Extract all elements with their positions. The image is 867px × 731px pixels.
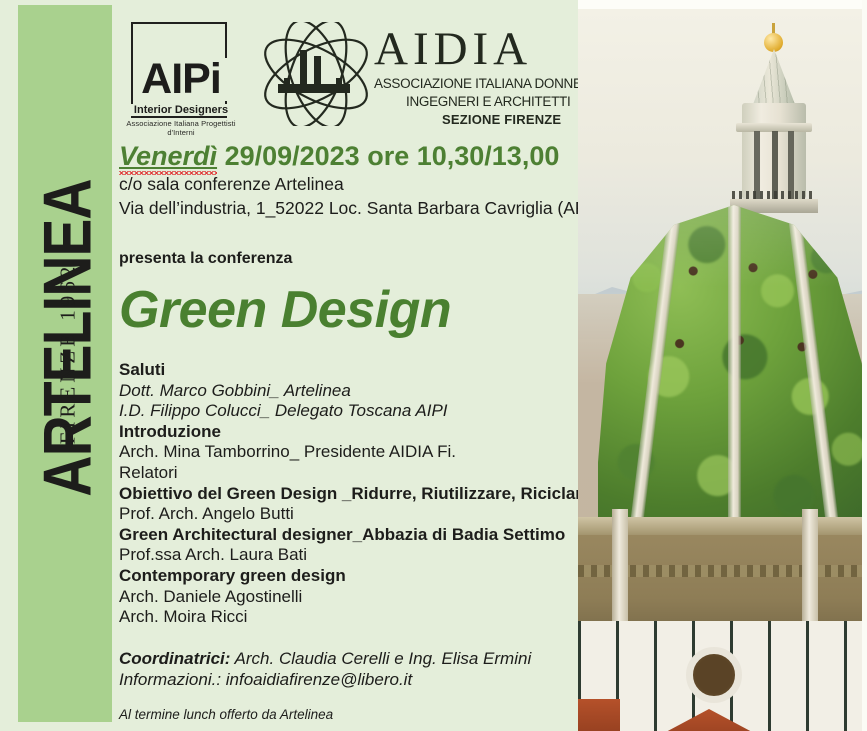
page-title: Green Design: [119, 280, 574, 340]
top-white-margin: [578, 0, 867, 9]
aidia-logo: AIDIA ASSOCIAZIONE ITALIANA DONNE INGEGN…: [256, 14, 566, 132]
event-venue: c/o sala conferenze Artelinea: [119, 172, 574, 196]
oculus-window: [686, 647, 742, 703]
list-item: Introduzione: [119, 422, 574, 443]
list-item: I.D. Filippo Colucci_ Delegato Toscana A…: [119, 401, 574, 422]
right-white-margin: [862, 0, 867, 731]
gold-sphere-icon: [764, 33, 783, 52]
coordinators-value: Arch. Claudia Cerelli e Ing. Elisa Ermin…: [230, 649, 531, 668]
drum-buttress: [612, 509, 628, 639]
coordinators-label: Coordinatrici:: [119, 649, 230, 668]
list-item: Arch. Mina Tamborrino_ Presidente AIDIA …: [119, 442, 574, 463]
aidia-line2: INGEGNERI E ARCHITETTI: [406, 94, 570, 109]
list-item: Arch. Moira Ricci: [119, 607, 574, 628]
brand-band-inner: ARTELINEA FIRENZE 1962: [18, 5, 112, 722]
list-item: Obiettivo del Green Design _Ridurre, Riu…: [119, 484, 574, 505]
list-item: Arch. Daniele Agostinelli: [119, 587, 574, 608]
aidia-wordmark: AIDIA: [374, 24, 532, 74]
lunch-note: Al termine lunch offerto da Artelinea: [119, 707, 574, 722]
aipi-full-name: Associazione Italiana Progettisti d'Inte…: [125, 119, 237, 137]
event-headline: Venerdì 29/09/2023 ore 10,30/13,00: [119, 140, 574, 172]
duomo-photo: [578, 9, 862, 731]
drum-buttress: [802, 509, 818, 639]
list-item: Prof. Arch. Angelo Butti: [119, 504, 574, 525]
brand-band: ARTELINEA FIRENZE 1962: [18, 5, 112, 722]
terracotta-roof: [578, 699, 620, 731]
poster: ARTELINEA FIRENZE 1962 AIPi Interior Des…: [0, 0, 867, 731]
presents-label: presenta la conferenza: [119, 250, 574, 268]
event-address-street: Via dell’industria, 1_52022 Loc. Santa B…: [119, 198, 604, 218]
list-item: Relatori: [119, 463, 574, 484]
aidia-line1: ASSOCIAZIONE ITALIANA DONNE: [374, 76, 582, 91]
list-item: Prof.ssa Arch. Laura Bati: [119, 545, 574, 566]
aipi-logo: AIPi Interior Designers Associazione Ita…: [125, 18, 235, 134]
lantern-columns: [742, 131, 806, 199]
brand-tagline: FIRENZE 1962: [56, 154, 81, 554]
content-column: Venerdì 29/09/2023 ore 10,30/13,00 c/o s…: [119, 140, 574, 722]
aipi-wordmark: AIPi: [133, 58, 229, 101]
footer-info: Coordinatrici: Arch. Claudia Cerelli e I…: [119, 648, 574, 722]
aipi-subtitle: Interior Designers: [129, 104, 233, 116]
program-list: Saluti Dott. Marco Gobbini_ Artelinea I.…: [119, 360, 574, 628]
coordinators-row: Coordinatrici: Arch. Claudia Cerelli e I…: [119, 648, 574, 669]
aidia-atom-icon: [256, 22, 376, 126]
list-item: Saluti: [119, 360, 574, 381]
logo-row: AIPi Interior Designers Associazione Ita…: [120, 8, 570, 134]
aidia-line3: SEZIONE FIRENZE: [442, 112, 561, 127]
information-email[interactable]: infoaidiafirenze@libero.it: [221, 670, 412, 689]
event-weekday: Venerdì: [119, 141, 217, 171]
event-date-time: 29/09/2023 ore 10,30/13,00: [225, 141, 560, 171]
list-item: Green Architectural designer_Abbazia di …: [119, 525, 574, 546]
information-label: Informazioni.:: [119, 670, 221, 689]
list-item: Dott. Marco Gobbini_ Artelinea: [119, 381, 574, 402]
list-item: Contemporary green design: [119, 566, 574, 587]
information-row: Informazioni.: infoaidiafirenze@libero.i…: [119, 669, 574, 690]
lantern-cone-ribs: [752, 49, 796, 107]
event-address: Via dell’industria, 1_52022 Loc. Santa B…: [119, 196, 574, 220]
